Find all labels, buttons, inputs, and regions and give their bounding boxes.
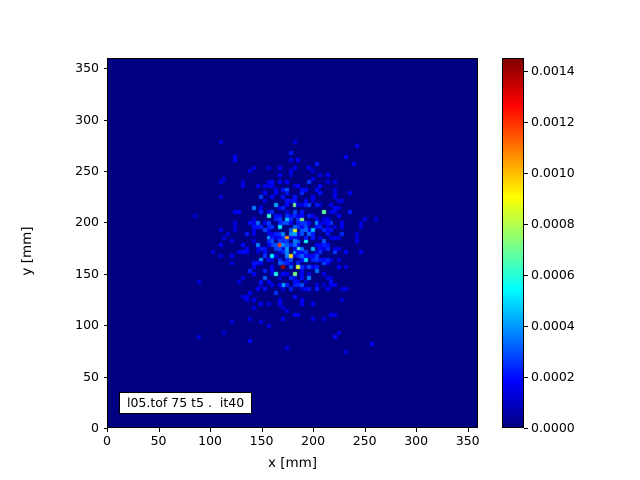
heatmap-image bbox=[108, 59, 477, 427]
y-tick-label: 350 bbox=[43, 62, 99, 75]
x-tick-mark bbox=[416, 428, 417, 432]
y-tick-mark bbox=[104, 120, 108, 121]
y-tick-mark bbox=[104, 377, 108, 378]
x-tick-label: 200 bbox=[301, 435, 325, 448]
figure-canvas: 050100150200250300350 050100150200250300… bbox=[0, 0, 640, 480]
colorbar-tick-label: 0.0004 bbox=[531, 320, 575, 333]
x-tick-label: 50 bbox=[151, 435, 167, 448]
y-tick-mark bbox=[104, 274, 108, 275]
y-tick-label: 300 bbox=[43, 113, 99, 126]
x-tick-label: 350 bbox=[456, 435, 480, 448]
colorbar-gradient bbox=[502, 58, 524, 428]
x-tick-label: 100 bbox=[198, 435, 222, 448]
colorbar-tick-label: 0.0010 bbox=[531, 167, 575, 180]
colorbar-tick-label: 0.0000 bbox=[531, 422, 575, 435]
x-tick-mark bbox=[262, 428, 263, 432]
x-axis-label: x [mm] bbox=[107, 455, 478, 471]
x-tick-label: 300 bbox=[404, 435, 428, 448]
colorbar-tick-label: 0.0002 bbox=[531, 371, 575, 384]
colorbar-tick-mark bbox=[524, 224, 528, 225]
y-tick-label: 0 bbox=[43, 422, 99, 435]
main-axes bbox=[107, 58, 478, 428]
colorbar-tick-label: 0.0014 bbox=[531, 65, 575, 78]
x-tick-label: 250 bbox=[353, 435, 377, 448]
x-tick-label: 150 bbox=[250, 435, 274, 448]
colorbar-tick-label: 0.0012 bbox=[531, 116, 575, 129]
y-tick-label: 50 bbox=[43, 370, 99, 383]
x-tick-mark bbox=[107, 428, 108, 432]
y-tick-mark bbox=[104, 325, 108, 326]
y-tick-mark bbox=[104, 68, 108, 69]
colorbar-tick-mark bbox=[524, 326, 528, 327]
y-tick-label: 250 bbox=[43, 165, 99, 178]
colorbar-tick-mark bbox=[524, 275, 528, 276]
x-tick-label: 0 bbox=[103, 435, 111, 448]
x-tick-mark bbox=[159, 428, 160, 432]
x-tick-mark bbox=[313, 428, 314, 432]
colorbar-tick-mark bbox=[524, 173, 528, 174]
colorbar-tick-mark bbox=[524, 428, 528, 429]
heatmap-plot-area bbox=[107, 58, 478, 428]
y-tick-mark bbox=[104, 222, 108, 223]
y-tick-mark bbox=[104, 171, 108, 172]
x-tick-mark bbox=[365, 428, 366, 432]
x-tick-mark bbox=[210, 428, 211, 432]
y-tick-label: 100 bbox=[43, 319, 99, 332]
colorbar-tick-label: 0.0008 bbox=[531, 218, 575, 231]
colorbar-tick-mark bbox=[524, 377, 528, 378]
colorbar-tick-mark bbox=[524, 71, 528, 72]
x-tick-mark bbox=[468, 428, 469, 432]
colorbar bbox=[502, 58, 524, 428]
y-axis-label: y [mm] bbox=[19, 201, 35, 301]
colorbar-tick-label: 0.0006 bbox=[531, 269, 575, 282]
plot-annotation-label: l05.tof 75 t5 . it40 bbox=[119, 392, 252, 414]
colorbar-tick-mark bbox=[524, 122, 528, 123]
y-tick-label: 150 bbox=[43, 268, 99, 281]
y-tick-label: 200 bbox=[43, 216, 99, 229]
